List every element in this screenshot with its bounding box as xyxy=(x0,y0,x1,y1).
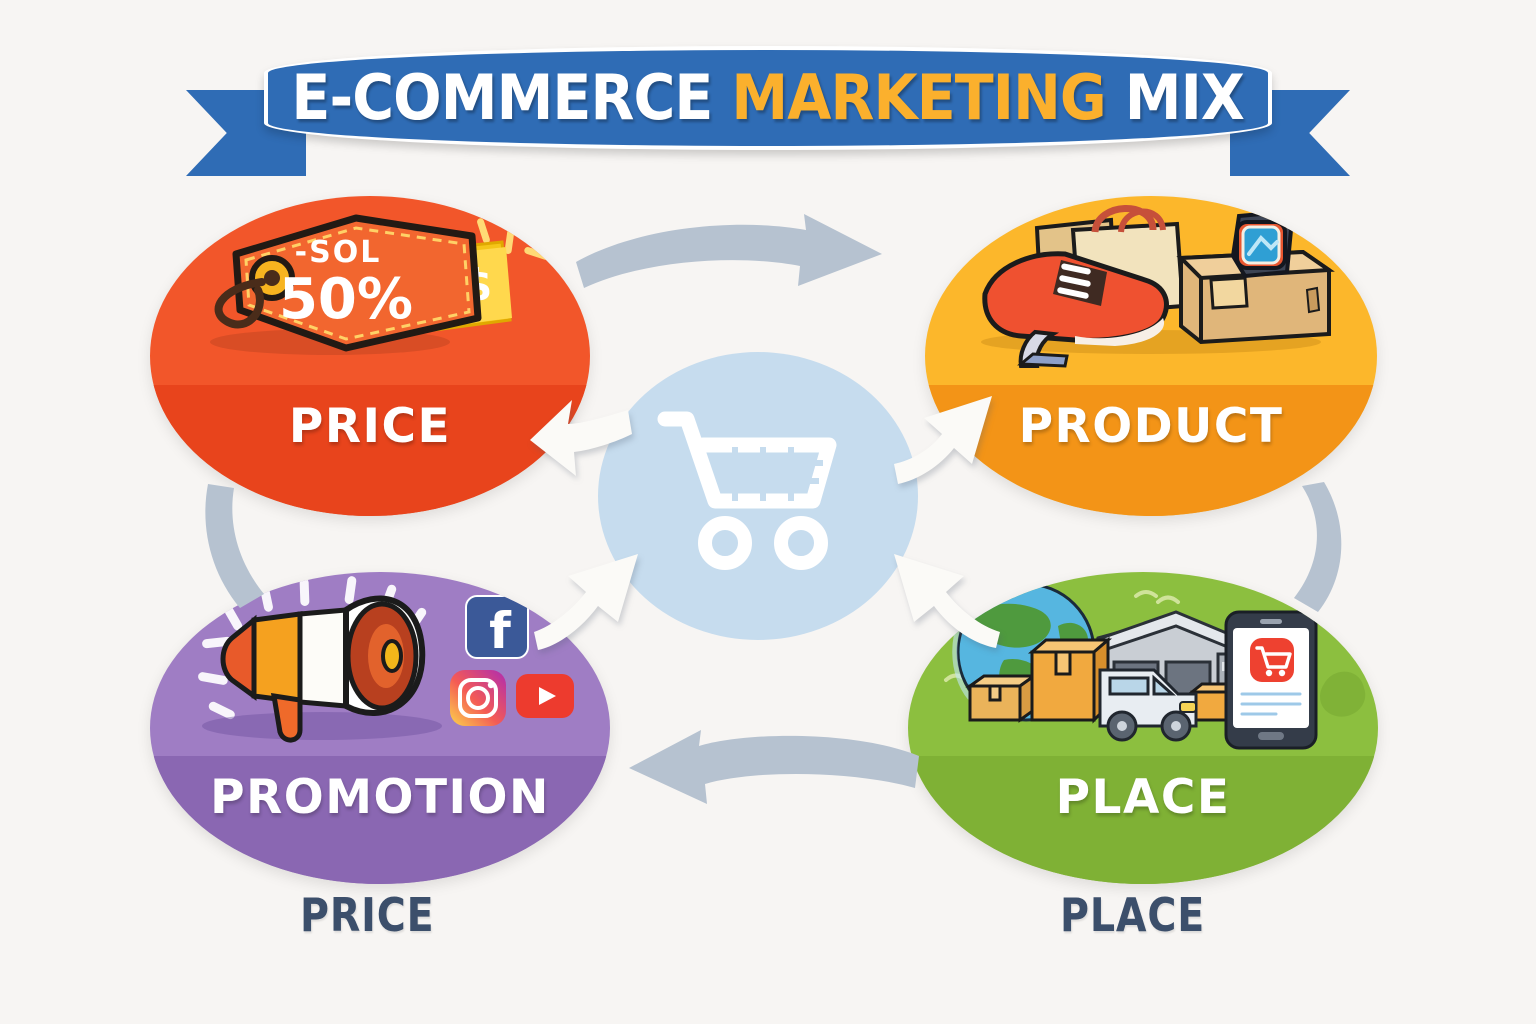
title-banner: E-COMMERCE MARKETING MIX xyxy=(186,46,1350,178)
arc-price-to-promotion xyxy=(198,480,272,614)
svg-text:f: f xyxy=(489,602,512,660)
pod-product-label: PRODUCT xyxy=(1019,399,1284,454)
arc-product-to-place xyxy=(1292,478,1364,618)
title-part-marketing: MARKETING xyxy=(732,61,1106,134)
shopping-cart-icon xyxy=(653,403,863,589)
caption-price: PRICE xyxy=(300,888,435,942)
pod-place-band: PLACE xyxy=(908,756,1378,884)
inner-arrow-to-product xyxy=(892,388,1008,496)
page-title: E-COMMERCE MARKETING MIX xyxy=(292,67,1245,129)
caption-place: PLACE xyxy=(1060,888,1205,942)
title-part-mix: MIX xyxy=(1125,61,1244,134)
title-part-ecommerce: E-COMMERCE xyxy=(292,61,713,134)
banner-body: E-COMMERCE MARKETING MIX xyxy=(264,46,1272,150)
inner-arrow-to-place xyxy=(884,548,1004,660)
svg-text:-SOL: -SOL xyxy=(295,235,382,270)
arrow-place-to-promotion xyxy=(625,718,925,810)
pod-promotion-band: PROMOTION xyxy=(150,756,610,884)
inner-arrow-to-promotion xyxy=(530,548,648,660)
infographic-canvas: E-COMMERCE MARKETING MIX $ xyxy=(0,0,1536,1024)
arrow-price-to-product xyxy=(570,208,890,304)
svg-text:50%: 50% xyxy=(279,267,413,332)
pod-price-label: PRICE xyxy=(289,399,451,454)
pod-promotion-label: PROMOTION xyxy=(210,770,550,825)
inner-arrow-to-price xyxy=(524,390,634,496)
pod-place-label: PLACE xyxy=(1056,770,1231,825)
